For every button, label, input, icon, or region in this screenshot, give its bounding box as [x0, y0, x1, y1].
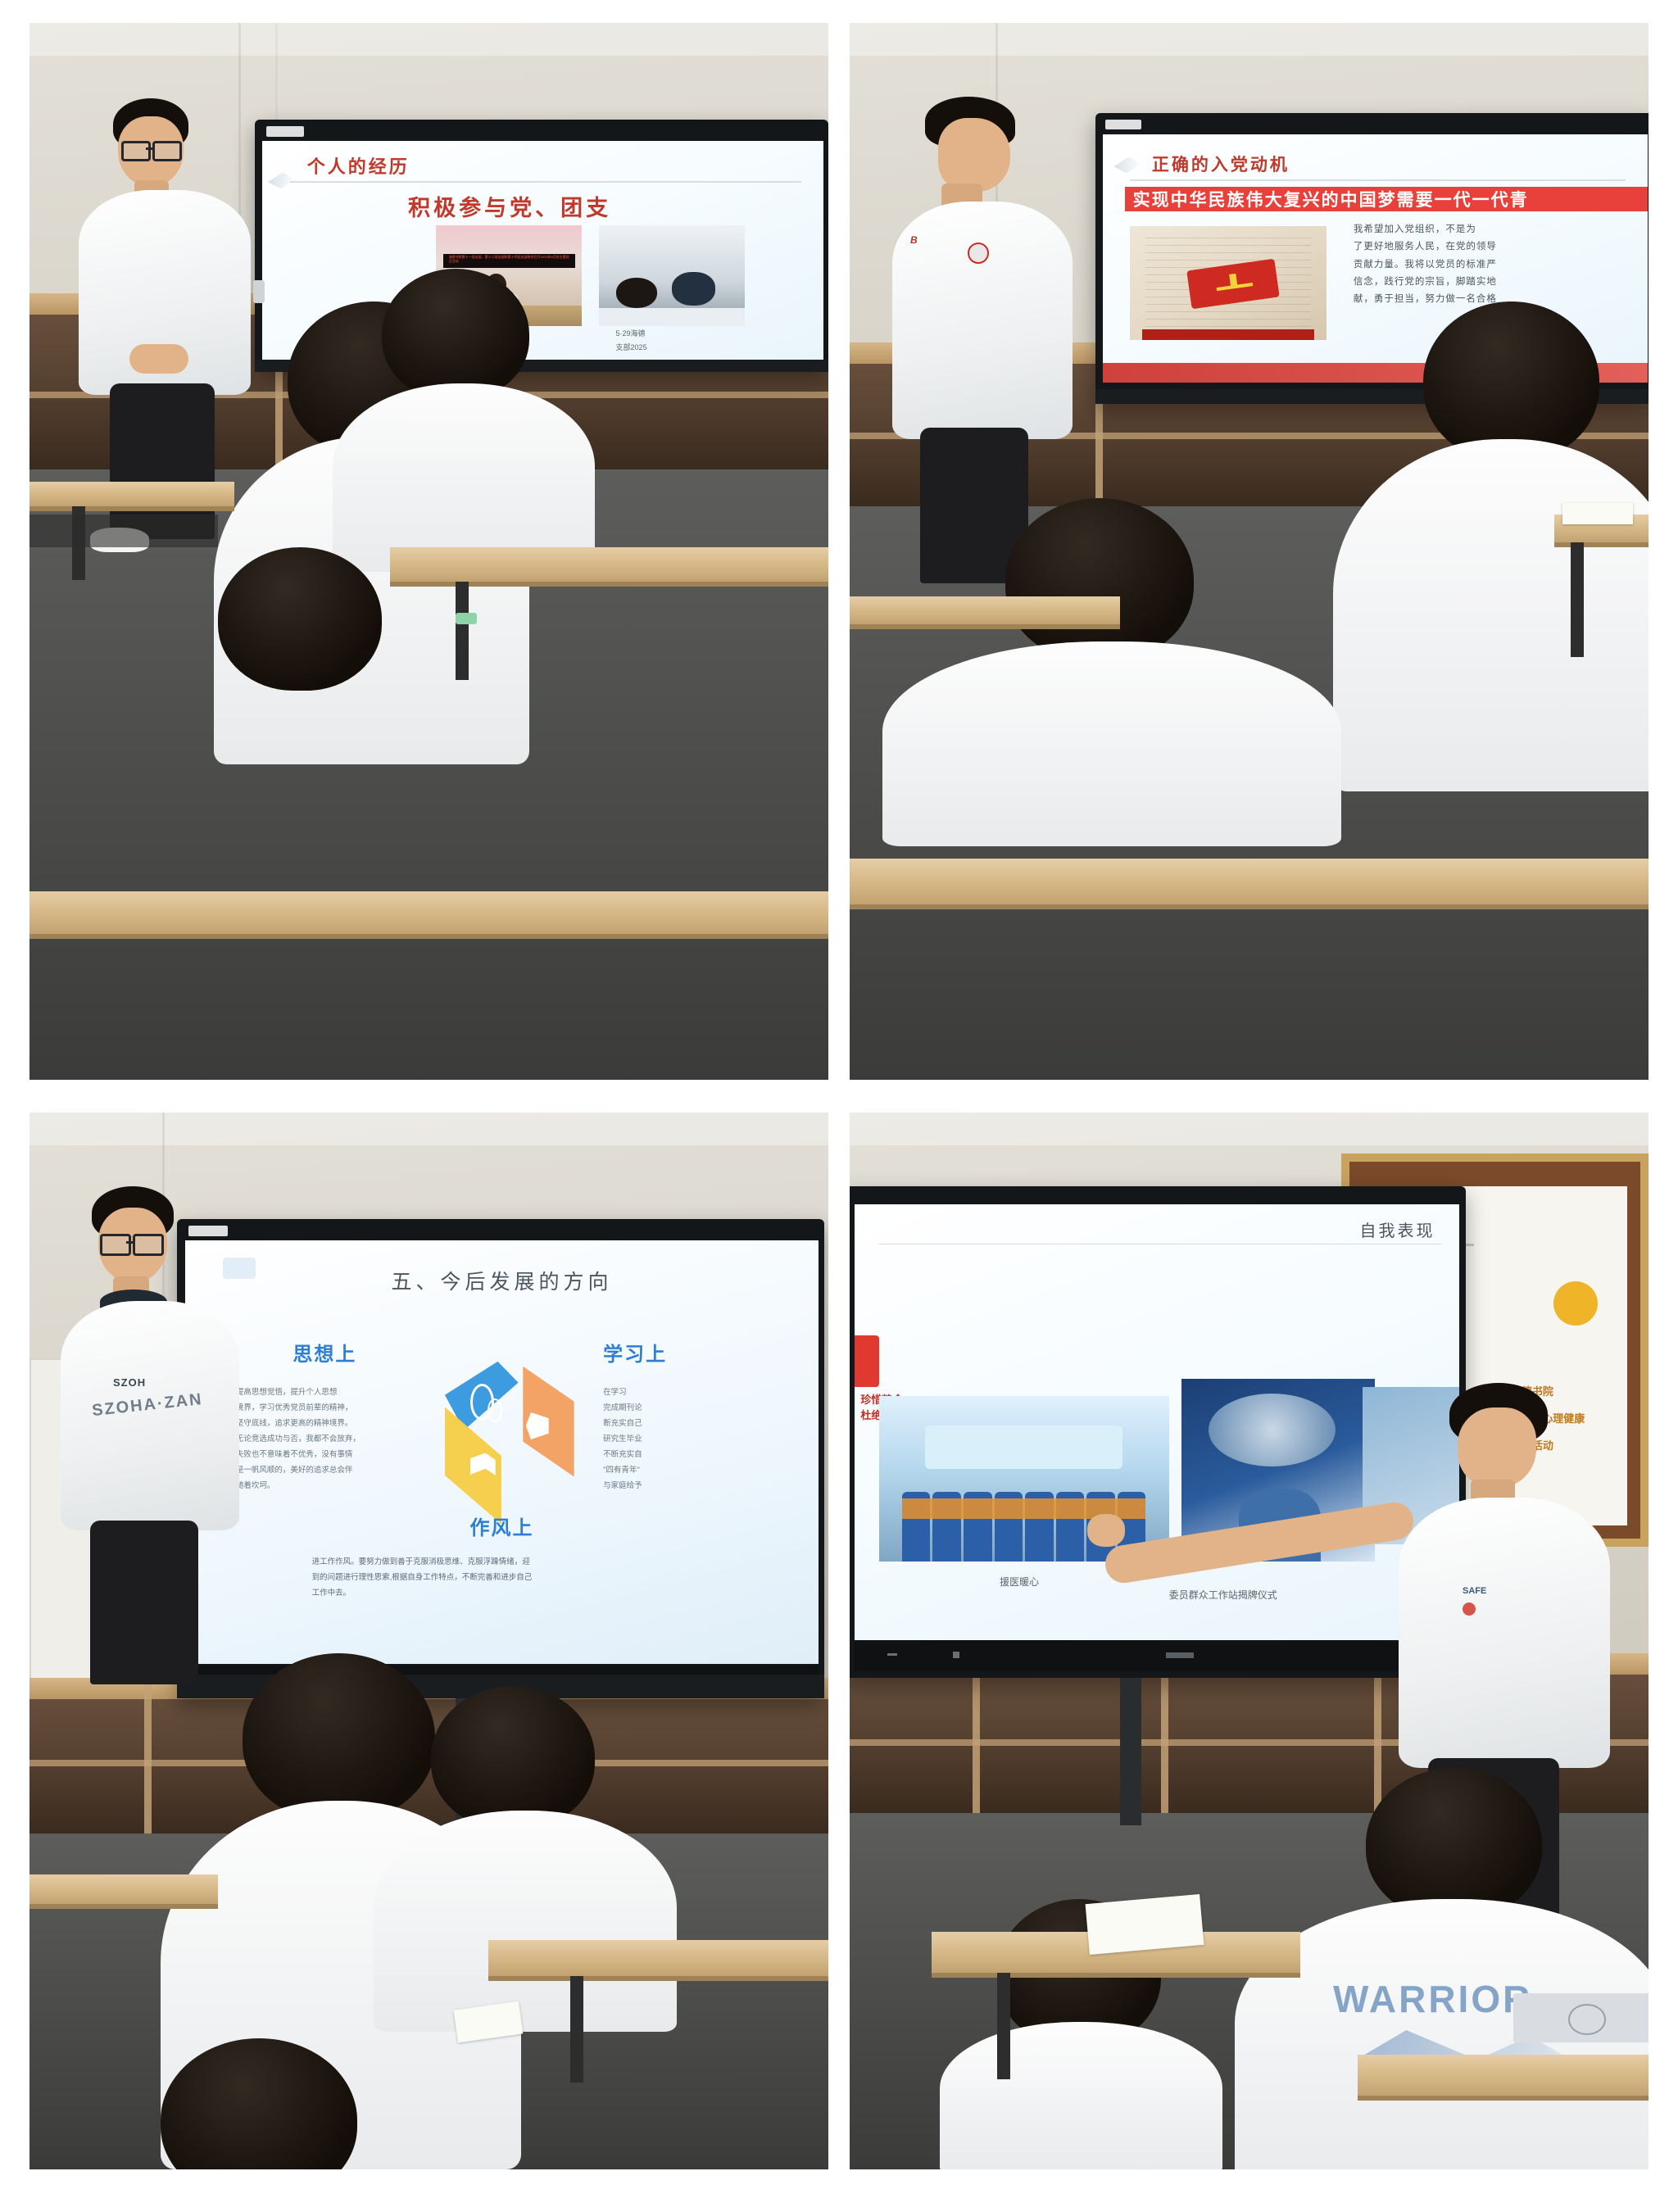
slide-caption: 5·29海德	[616, 328, 646, 338]
interactive-whiteboard[interactable]: 五、今后发展的方向 思想上 提高思想觉悟，提升个人思想 境界，学习优秀党员前辈的…	[177, 1219, 824, 1698]
paper-sheet[interactable]	[1086, 1894, 1204, 1955]
back-of-head	[218, 547, 382, 691]
shoulders	[882, 641, 1341, 846]
laptop[interactable]	[1513, 1993, 1649, 2042]
desk	[850, 596, 1120, 629]
toolbar-icon[interactable]	[887, 1653, 897, 1656]
desk	[488, 1940, 828, 1981]
shirt-emblem-icon	[1463, 1602, 1476, 1616]
slide-header-rule	[879, 1244, 1441, 1244]
section-label-study: 学习上	[603, 1338, 667, 1367]
back-of-head	[1423, 301, 1599, 461]
party-badge-icon	[968, 243, 989, 264]
ceiling-band	[850, 23, 1649, 56]
ceiling-band	[29, 23, 828, 56]
face-profile	[1458, 1407, 1536, 1488]
ceiling-band	[29, 1113, 828, 1145]
section-text-style: 进工作作风。要努力做到善于克服消极思维、克服浮躁情绪，迎 到的问题进行理性思索,…	[312, 1554, 794, 1601]
photo-ceiling-light	[925, 1426, 1122, 1469]
section-label-style: 作风上	[185, 1512, 819, 1540]
panel-bottom-left: 五、今后发展的方向 思想上 提高思想觉悟，提升个人思想 境界，学习优秀党员前辈的…	[29, 1113, 828, 2169]
white-tshirt	[892, 202, 1073, 439]
desk-leg	[456, 582, 469, 680]
toolbar-icon[interactable]	[953, 1652, 959, 1658]
board-stand	[1120, 1678, 1141, 1825]
slide-photo-application	[1130, 226, 1326, 340]
shirt-script-logo: B	[910, 234, 918, 246]
glasses-left	[121, 141, 151, 161]
desk-front	[850, 859, 1649, 909]
photo-led-banner: 海德书院第十一党支部、第十二党支部和第十四党支部联合召开2025年5月份主题党日…	[443, 254, 574, 268]
photo-led-banner-text: 海德书院第十一党支部、第十二党支部和第十四党支部联合召开2025年5月份主题党日…	[449, 255, 569, 266]
panel-bottom-right: 海德书院 "5·25"心理健康 系列活动 自我表现 珍惜粮食 杜绝浪费	[850, 1113, 1649, 2169]
desk	[29, 1874, 218, 1909]
face-profile	[938, 118, 1010, 192]
desk-front	[29, 891, 828, 939]
desk-shadow	[29, 514, 218, 547]
glasses-left	[100, 1234, 131, 1256]
shoulders	[940, 2022, 1222, 2169]
desk-leg	[570, 1976, 583, 2083]
cube-graphic	[445, 1338, 572, 1507]
section-label-thinking: 思想上	[293, 1338, 356, 1367]
slide-headline: 积极参与党、团支	[408, 190, 611, 222]
slide-photo-volunteers	[879, 1396, 1169, 1562]
hands	[129, 344, 188, 374]
presenter-person: SZOH SZOHA·ZAN	[61, 1186, 249, 1678]
presenter-person: B	[892, 97, 1081, 523]
laptop-logo	[1568, 2004, 1606, 2035]
desk-leg	[997, 1973, 1010, 2079]
glasses-right	[152, 141, 182, 161]
desk	[390, 547, 828, 587]
glasses-right	[133, 1234, 164, 1256]
board-screen[interactable]: 五、今后发展的方向 思想上 提高思想觉悟，提升个人思想 境界，学习优秀党员前辈的…	[185, 1240, 819, 1664]
hammer-sickle-icon	[1210, 270, 1255, 297]
slide-caption-left: 援医暖心	[1000, 1575, 1039, 1589]
paper-sheet[interactable]	[1562, 503, 1633, 524]
section-text-thinking: 提高思想觉悟，提升个人思想 境界，学习优秀党员前辈的精神， 坚守底线，追求更高的…	[236, 1385, 426, 1494]
panel-top-right: 正确的入党动机 实现中华民族伟大复兴的中国梦需要一代一代青 我希望加入党组织，不…	[850, 23, 1649, 1080]
section-text-study: 在学习 完成期刊论 断充实自己 研究生毕业 不断充实自 "四有青年" 与家庭给予	[603, 1385, 805, 1494]
photo-head	[616, 278, 657, 308]
board-toolbar[interactable]	[855, 1640, 1459, 1671]
photo-head	[672, 272, 715, 306]
board-brand-badge	[1105, 120, 1141, 129]
slide-caption-right: 委员群众工作站揭牌仪式	[1169, 1588, 1277, 1602]
back-of-head	[1005, 498, 1194, 662]
white-polo-shirt	[1399, 1498, 1610, 1768]
back-of-head	[431, 1686, 595, 1829]
ceiling-band	[850, 1113, 1649, 1145]
slide-title: 五、今后发展的方向	[185, 1266, 819, 1295]
shoulders	[333, 383, 595, 572]
slide-body-text: 我希望加入党组织，不是为 了更好地服务人民，在党的领导 贡献力量。我将以党员的标…	[1354, 221, 1642, 308]
back-of-head	[382, 269, 529, 400]
glasses-bridge	[146, 147, 154, 150]
slide-header-title: 正确的入党动机	[1152, 152, 1290, 176]
back-of-head	[161, 2038, 357, 2169]
audience-member	[111, 2038, 439, 2169]
photo-collage: 个人的经历 积极参与党、团支 海德书院第十一党支部、第十二党支部和第十四党支部联…	[0, 0, 1678, 2212]
toolbar-icon[interactable]	[1166, 1652, 1194, 1658]
gears-icon-small	[488, 1398, 502, 1422]
slide-photo-audience	[599, 225, 745, 325]
audience-member	[882, 498, 1341, 842]
red-accent-tab	[855, 1335, 879, 1388]
slide-red-banner: 实现中华民族伟大复兴的中国梦需要一代一代青	[1125, 187, 1648, 211]
desk-leg	[1571, 542, 1584, 657]
shirt-logo-text: SZOH	[113, 1376, 146, 1389]
photo-satellite-model	[1209, 1394, 1336, 1466]
slide-future-directions: 五、今后发展的方向 思想上 提高思想觉悟，提升个人思想 境界，学习优秀党员前辈的…	[185, 1240, 819, 1664]
panel-top-left: 个人的经历 积极参与党、团支 海德书院第十一党支部、第十二党支部和第十四党支部联…	[29, 23, 828, 1080]
board-brand-badge	[266, 126, 304, 137]
shoulders	[374, 1811, 677, 2032]
back-of-head	[1366, 1768, 1542, 1920]
slide-header-title: 个人的经历	[307, 152, 410, 179]
glasses-bridge	[126, 1241, 134, 1244]
photo-desk	[599, 308, 745, 326]
shirt-logo-text: SAFE	[1463, 1586, 1486, 1596]
pointing-hand	[1087, 1514, 1125, 1547]
marker-pen[interactable]	[456, 613, 477, 624]
cabinet-divider	[144, 1678, 152, 1834]
audience-member	[1333, 301, 1649, 793]
shoulders	[1333, 439, 1649, 791]
photo-red-strip	[1142, 329, 1315, 341]
slide-header-title: 自我表现	[1359, 1217, 1435, 1241]
cube-face-tag	[503, 1351, 574, 1476]
audience-member	[333, 269, 587, 564]
white-polo-shirt	[61, 1301, 239, 1530]
desk	[29, 482, 234, 511]
sun-icon	[1553, 1281, 1598, 1326]
shirt-graphic-text: WARRIOR	[1333, 1977, 1532, 2021]
slide-caption: 支部2025	[616, 342, 647, 352]
desk	[1358, 2055, 1649, 2101]
